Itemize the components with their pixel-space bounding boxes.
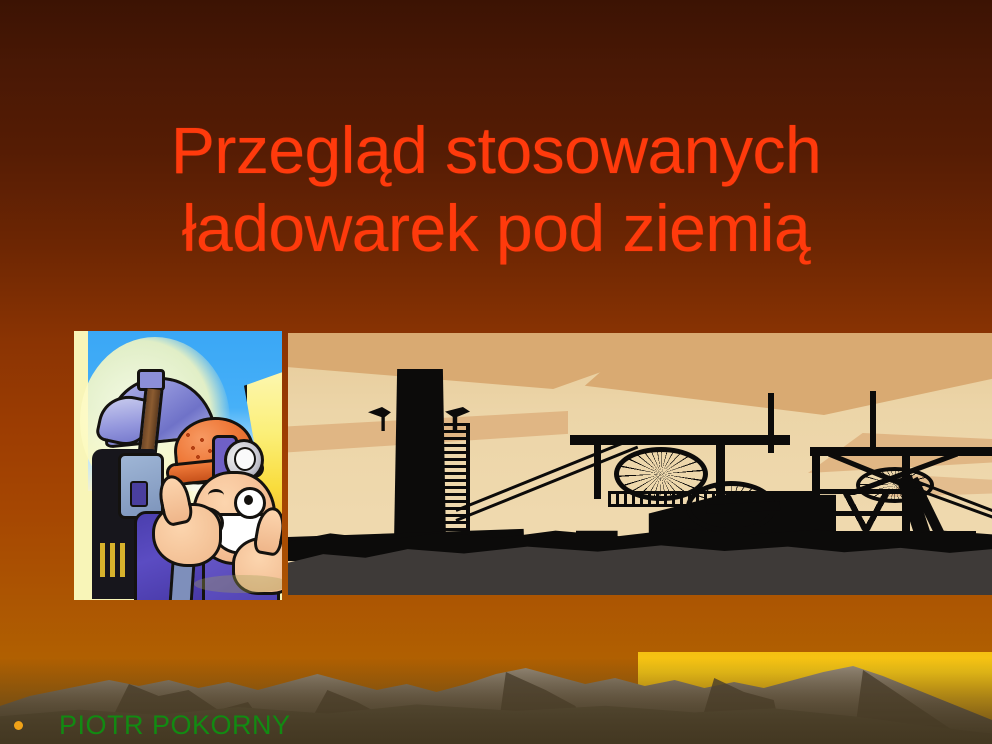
miner-reflective-stripes bbox=[100, 543, 126, 577]
author-line[interactable]: PIOTR POKORNY bbox=[0, 706, 992, 744]
presentation-slide: Przegląd stosowanych ładowarek pod ziemi… bbox=[0, 0, 992, 744]
mine-headframe-image[interactable] bbox=[288, 333, 992, 595]
miner-eye-left bbox=[208, 489, 224, 502]
headframe-left-post-a bbox=[594, 443, 601, 499]
headframe-right-canopy bbox=[810, 447, 992, 456]
mine-chimney bbox=[394, 369, 446, 543]
miner-pupil bbox=[244, 495, 253, 505]
author-name: PIOTR POKORNY bbox=[59, 710, 291, 741]
slide-title: Przegląd stosowanych ładowarek pod ziemi… bbox=[0, 112, 992, 268]
bullet-icon bbox=[14, 721, 23, 730]
headframe-right-mast bbox=[870, 391, 876, 449]
mine-chimney-ladder bbox=[444, 423, 470, 547]
cartoon-miner-image[interactable] bbox=[74, 331, 282, 600]
headframe-left-roof bbox=[570, 435, 790, 445]
miner-gear-detail bbox=[130, 481, 148, 507]
pickaxe-knob bbox=[137, 369, 165, 391]
headframe-left-mast bbox=[768, 393, 774, 453]
mine-cable-2 bbox=[455, 446, 638, 522]
cartoon-floor-shadow bbox=[194, 575, 282, 593]
headlamp-lens bbox=[234, 447, 256, 471]
